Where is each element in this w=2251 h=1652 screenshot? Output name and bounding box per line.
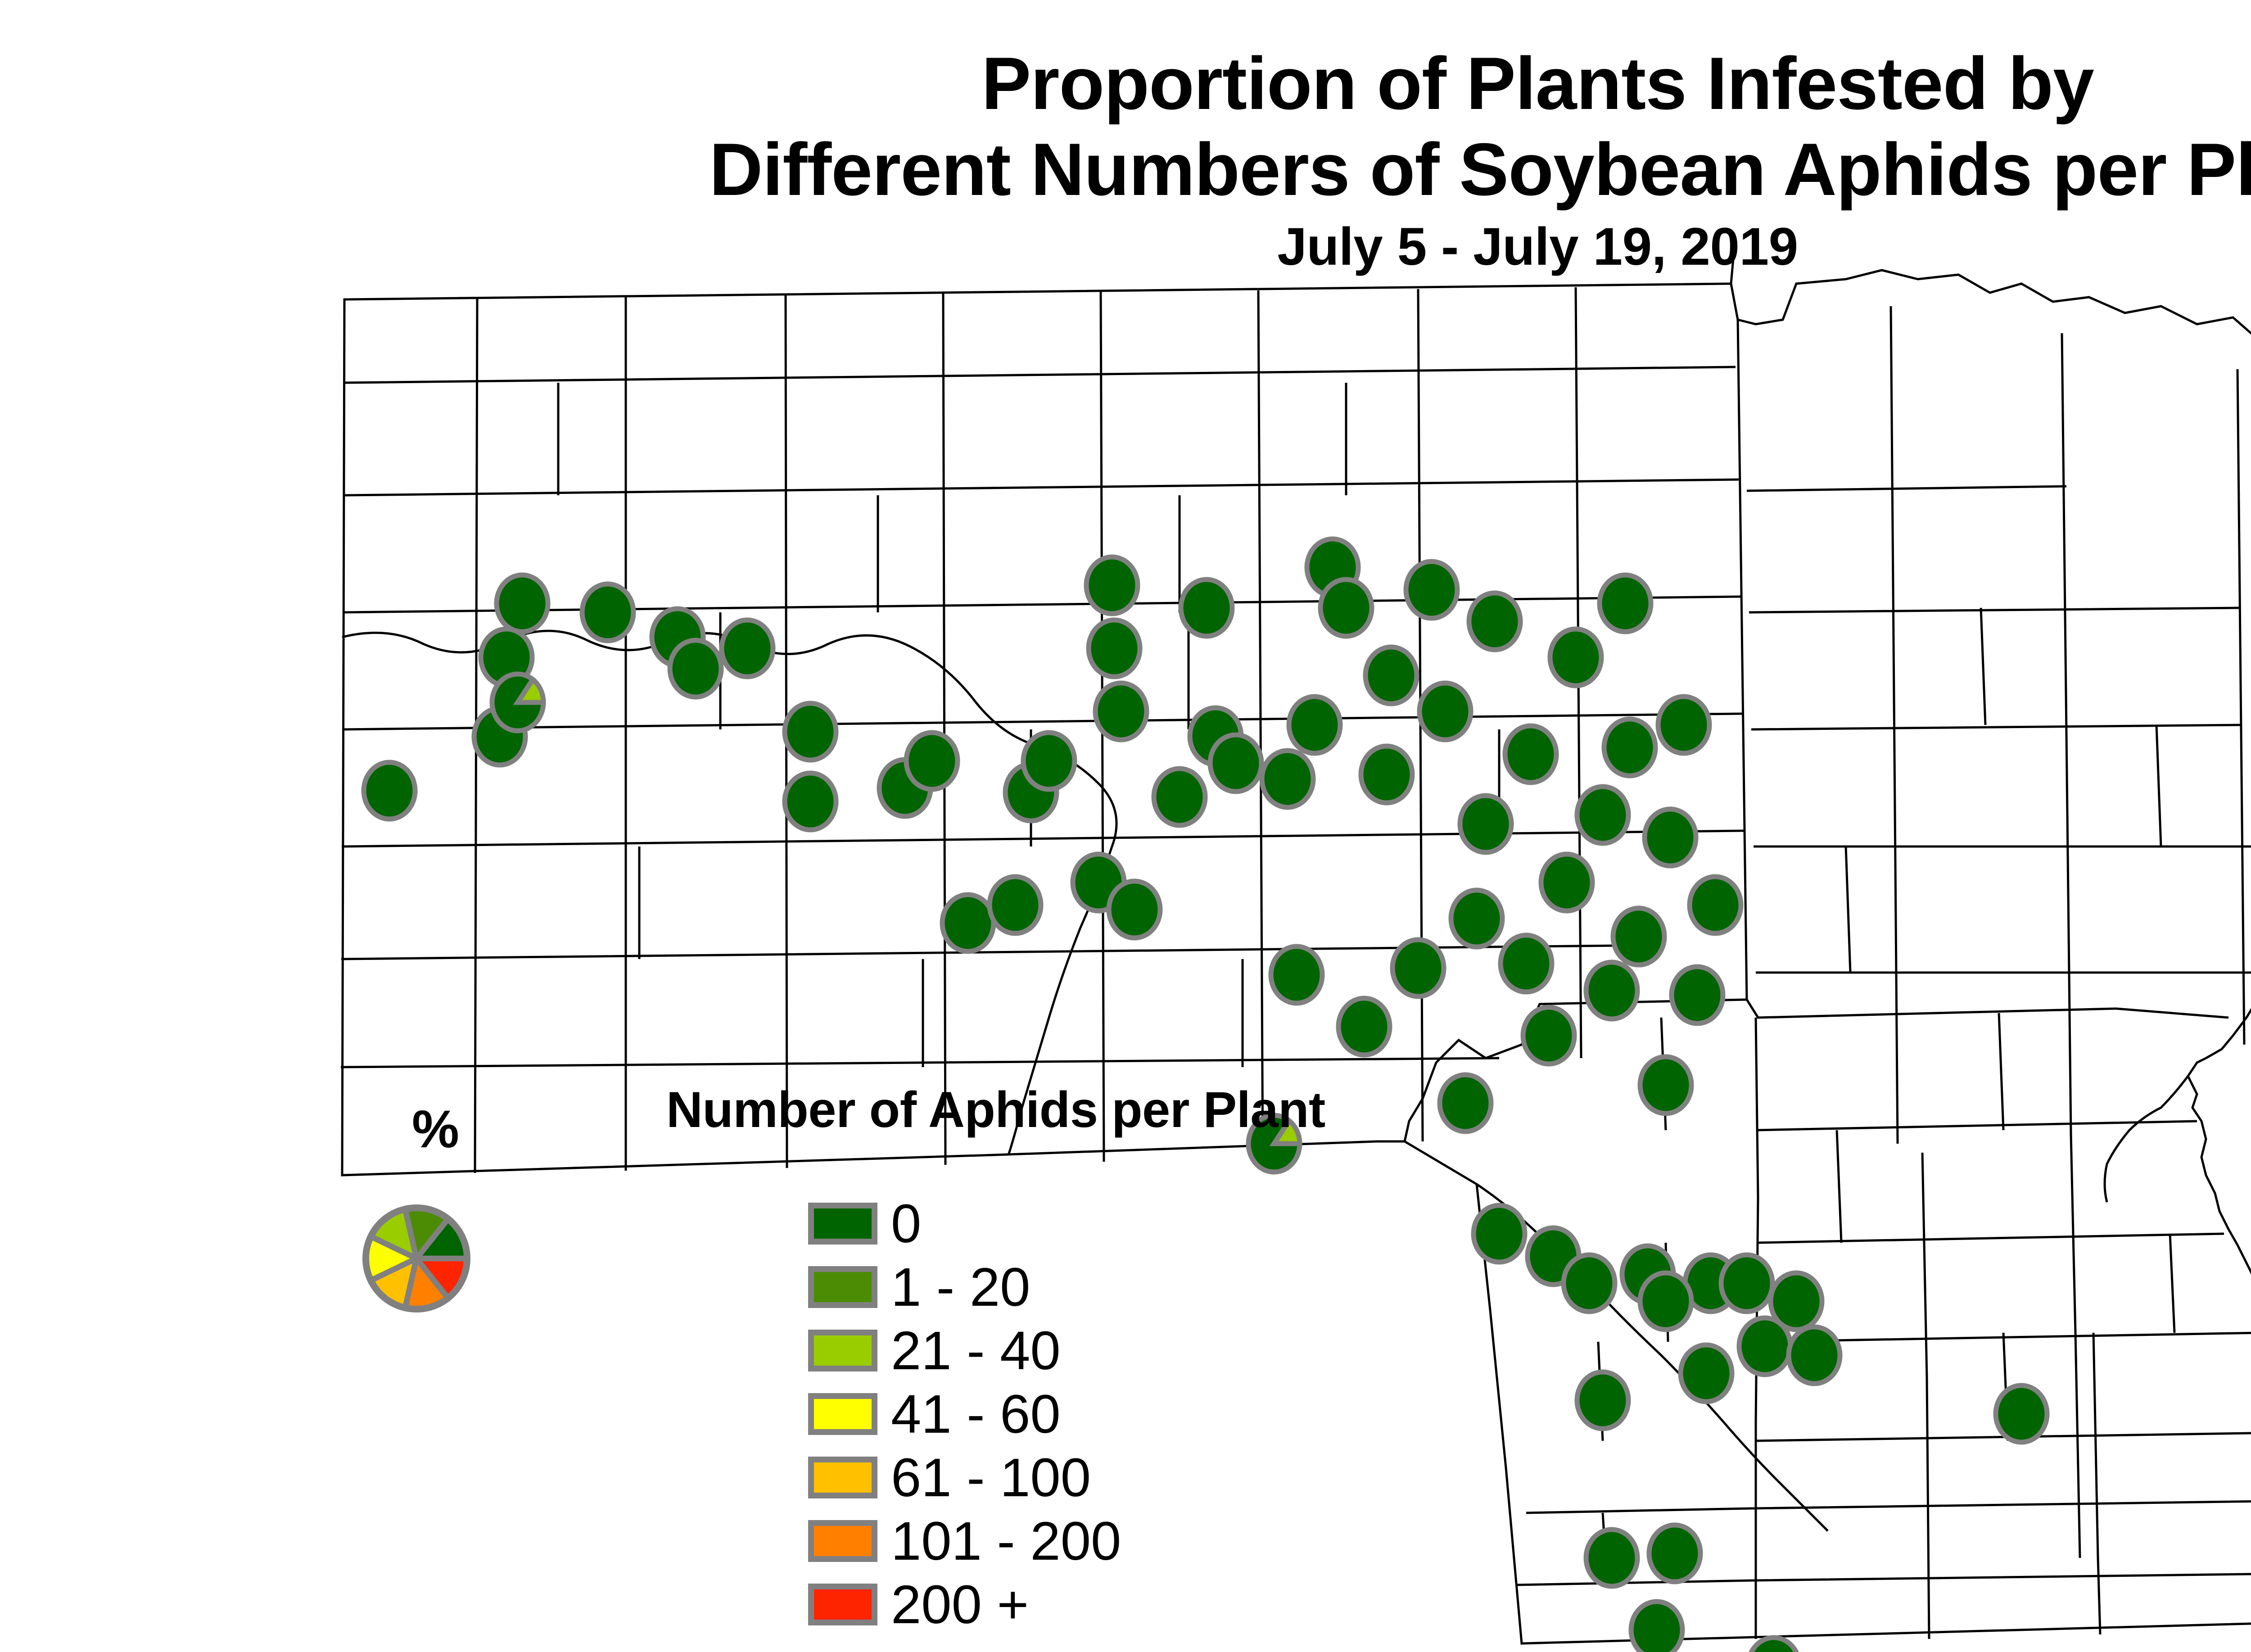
legend-row-label: 61 - 100 (891, 1450, 1091, 1505)
pie-slice (1564, 1255, 1615, 1312)
pie-slice (497, 575, 548, 632)
pie-slice (1748, 1638, 1799, 1652)
site-pie-marker[interactable] (1586, 1530, 1637, 1586)
title-line-2: Different Numbers of Soybean Aphids per … (0, 127, 2251, 213)
site-pie-marker[interactable] (1577, 787, 1628, 843)
site-pie-marker[interactable] (1523, 1007, 1574, 1064)
pie-slice (1320, 579, 1372, 636)
page-title: Proportion of Plants Infested by Differe… (0, 41, 2251, 213)
pie-slice (1789, 1327, 1840, 1384)
pie-slice (1361, 746, 1412, 803)
pie-slice (1550, 629, 1601, 686)
pie-slice (1640, 1057, 1691, 1113)
site-pie-marker[interactable] (1550, 629, 1601, 686)
pie-slice (670, 640, 721, 697)
site-pie-marker[interactable] (582, 584, 633, 641)
pie-slice (1681, 1345, 1732, 1402)
legend-row-label: 0 (891, 1196, 921, 1251)
site-pie-marker[interactable] (1996, 1385, 2047, 1442)
pie-slice (1406, 561, 1457, 618)
site-pie-marker[interactable] (1181, 579, 1232, 636)
site-pie-marker[interactable] (492, 674, 543, 731)
legend-items: 01 - 2021 - 4041 - 6061 - 100101 - 20020… (808, 1192, 1325, 1636)
site-pie-marker[interactable] (1086, 557, 1138, 614)
legend-row-label: 1 - 20 (891, 1260, 1030, 1314)
site-pie-marker[interactable] (1392, 940, 1444, 996)
pie-slice (1392, 940, 1444, 996)
pie-slice (722, 620, 773, 677)
pie-slice (1672, 967, 1723, 1023)
site-pie-marker[interactable] (1338, 998, 1390, 1055)
legend-color-swatch (808, 1203, 877, 1245)
site-pie-marker[interactable] (1658, 697, 1709, 753)
title-line-1: Proportion of Plants Infested by (0, 41, 2251, 127)
site-pie-marker[interactable] (990, 877, 1041, 933)
site-pie-marker[interactable] (1721, 1255, 1772, 1312)
pie-slice (1613, 908, 1664, 965)
legend-row[interactable]: 21 - 40 (808, 1319, 1325, 1382)
site-pie-marker[interactable] (1577, 1372, 1628, 1429)
pie-slice (1690, 877, 1741, 933)
site-pie-marker[interactable] (1640, 1057, 1691, 1113)
pie-slice (1577, 787, 1628, 843)
pie-slice (1586, 1530, 1637, 1586)
site-pie-marker[interactable] (906, 733, 958, 789)
pie-slice (1649, 1525, 1700, 1582)
site-pie-marker[interactable] (1023, 733, 1075, 789)
site-pie-marker[interactable] (1361, 746, 1412, 803)
pie-slice (942, 895, 994, 951)
site-pie-marker[interactable] (1649, 1525, 1700, 1582)
pie-slice (1271, 946, 1322, 1003)
legend-row[interactable]: 200 + (808, 1573, 1325, 1636)
site-pie-marker[interactable] (1154, 769, 1205, 825)
pie-slice (906, 733, 958, 789)
site-pie-marker[interactable] (1451, 890, 1502, 947)
legend-row[interactable]: 41 - 60 (808, 1382, 1325, 1446)
legend-row-label: 101 - 200 (891, 1514, 1121, 1568)
site-pie-marker[interactable] (722, 620, 773, 677)
site-pie-marker[interactable] (1690, 877, 1741, 933)
pie-slice (1095, 683, 1147, 740)
site-pie-marker[interactable] (1460, 796, 1511, 852)
site-pie-marker[interactable] (1406, 561, 1457, 618)
pie-slice (1577, 1372, 1628, 1429)
pie-slice (1262, 751, 1313, 807)
legend-color-swatch (808, 1520, 877, 1562)
site-pie-marker[interactable] (1613, 908, 1664, 965)
site-pie-marker[interactable] (1586, 962, 1637, 1019)
pie-slice (1460, 796, 1511, 852)
pie-slice (1419, 683, 1471, 740)
pie-slice (1771, 1273, 1822, 1330)
site-pie-marker[interactable] (1419, 683, 1471, 740)
site-pie-marker[interactable] (1604, 719, 1655, 776)
pie-slice (1658, 697, 1709, 753)
site-pie-marker[interactable] (1505, 726, 1556, 783)
pie-slice (1996, 1385, 2047, 1442)
site-pie-marker[interactable] (1600, 575, 1651, 632)
site-pie-marker[interactable] (1771, 1273, 1822, 1330)
legend-color-swatch (808, 1457, 877, 1498)
pie-slice (1541, 854, 1592, 911)
pie-slice (1523, 1007, 1574, 1064)
site-pie-marker[interactable] (1262, 751, 1313, 807)
site-pie-marker[interactable] (1271, 946, 1322, 1003)
site-pie-marker[interactable] (1289, 697, 1340, 753)
pie-slice (1440, 1075, 1491, 1132)
pie-slice (1023, 733, 1075, 789)
pie-slice (1505, 726, 1556, 783)
site-pie-marker[interactable] (1109, 881, 1160, 938)
legend-row[interactable]: 61 - 100 (808, 1446, 1325, 1509)
pie-slice (990, 877, 1041, 933)
pie-slice (1451, 890, 1502, 947)
pie-slice (1600, 575, 1651, 632)
legend-row[interactable]: 101 - 200 (808, 1509, 1325, 1573)
site-pie-marker[interactable] (1320, 579, 1372, 636)
legend-color-swatch (808, 1393, 877, 1435)
site-pie-marker[interactable] (1681, 1345, 1732, 1402)
pie-slice (364, 762, 415, 819)
pie-slice (785, 773, 836, 830)
site-pie-marker[interactable] (785, 773, 836, 830)
site-pie-marker[interactable] (1631, 1602, 1682, 1652)
pie-slice (1086, 557, 1138, 614)
legend-color-swatch (808, 1266, 877, 1308)
pie-slice (1474, 1205, 1525, 1262)
site-pie-marker[interactable] (497, 575, 548, 632)
legend-row[interactable]: 0 (808, 1192, 1325, 1255)
site-pie-marker[interactable] (1789, 1327, 1840, 1384)
site-pie-marker[interactable] (1440, 1075, 1491, 1132)
site-pie-marker[interactable] (1365, 647, 1417, 704)
pie-slice (1089, 620, 1140, 677)
site-pie-marker[interactable] (1564, 1255, 1615, 1312)
pie-slice (1631, 1602, 1682, 1652)
pie-slice (1469, 593, 1520, 650)
percent-legend: % (387, 1099, 576, 1333)
site-pie-marker[interactable] (1089, 620, 1140, 677)
site-pie-marker[interactable] (1095, 683, 1147, 740)
legend-color-swatch (808, 1330, 877, 1371)
site-pie-marker[interactable] (942, 895, 994, 951)
legend-color-swatch (808, 1584, 877, 1625)
pie-slice (1109, 881, 1160, 938)
pie-slice (1365, 647, 1417, 704)
percent-legend-label: % (412, 1099, 459, 1160)
site-pie-marker[interactable] (670, 640, 721, 697)
pie-slice (1501, 935, 1552, 992)
site-pie-marker[interactable] (1210, 735, 1261, 792)
legend-row-label: 200 + (891, 1577, 1029, 1632)
pie-slice (1210, 735, 1261, 792)
site-pie-marker[interactable] (1640, 1273, 1691, 1330)
site-pie-marker[interactable] (1645, 809, 1696, 866)
pie-slice (1338, 998, 1390, 1055)
pie-slice (1604, 719, 1655, 776)
site-pie-marker[interactable] (1469, 593, 1520, 650)
pie-slice (582, 584, 633, 641)
pie-slice (785, 703, 836, 760)
legend-row-label: 41 - 60 (891, 1387, 1061, 1441)
site-pie-marker[interactable] (1672, 967, 1723, 1023)
legend-row[interactable]: 1 - 20 (808, 1255, 1325, 1319)
site-pie-marker[interactable] (364, 762, 415, 819)
site-pie-marker[interactable] (785, 703, 836, 760)
pie-slice (1289, 697, 1340, 753)
pie-slice (1645, 809, 1696, 866)
site-pie-marker[interactable] (1501, 935, 1552, 992)
legend-title: Number of Aphids per Plant (666, 1081, 1325, 1139)
pie-slice (1721, 1255, 1772, 1312)
site-pie-marker[interactable] (1474, 1205, 1525, 1262)
pie-slice (1640, 1273, 1691, 1330)
pie-slice (1154, 769, 1205, 825)
pie-wheel-icon (360, 1202, 473, 1315)
site-pie-marker[interactable] (1541, 854, 1592, 911)
aphid-class-legend: Number of Aphids per Plant 01 - 2021 - 4… (666, 1081, 1325, 1636)
pie-slice (1181, 579, 1232, 636)
pie-slice (1586, 962, 1637, 1019)
legend-row-label: 21 - 40 (891, 1323, 1061, 1378)
site-pie-marker[interactable] (1748, 1638, 1799, 1652)
